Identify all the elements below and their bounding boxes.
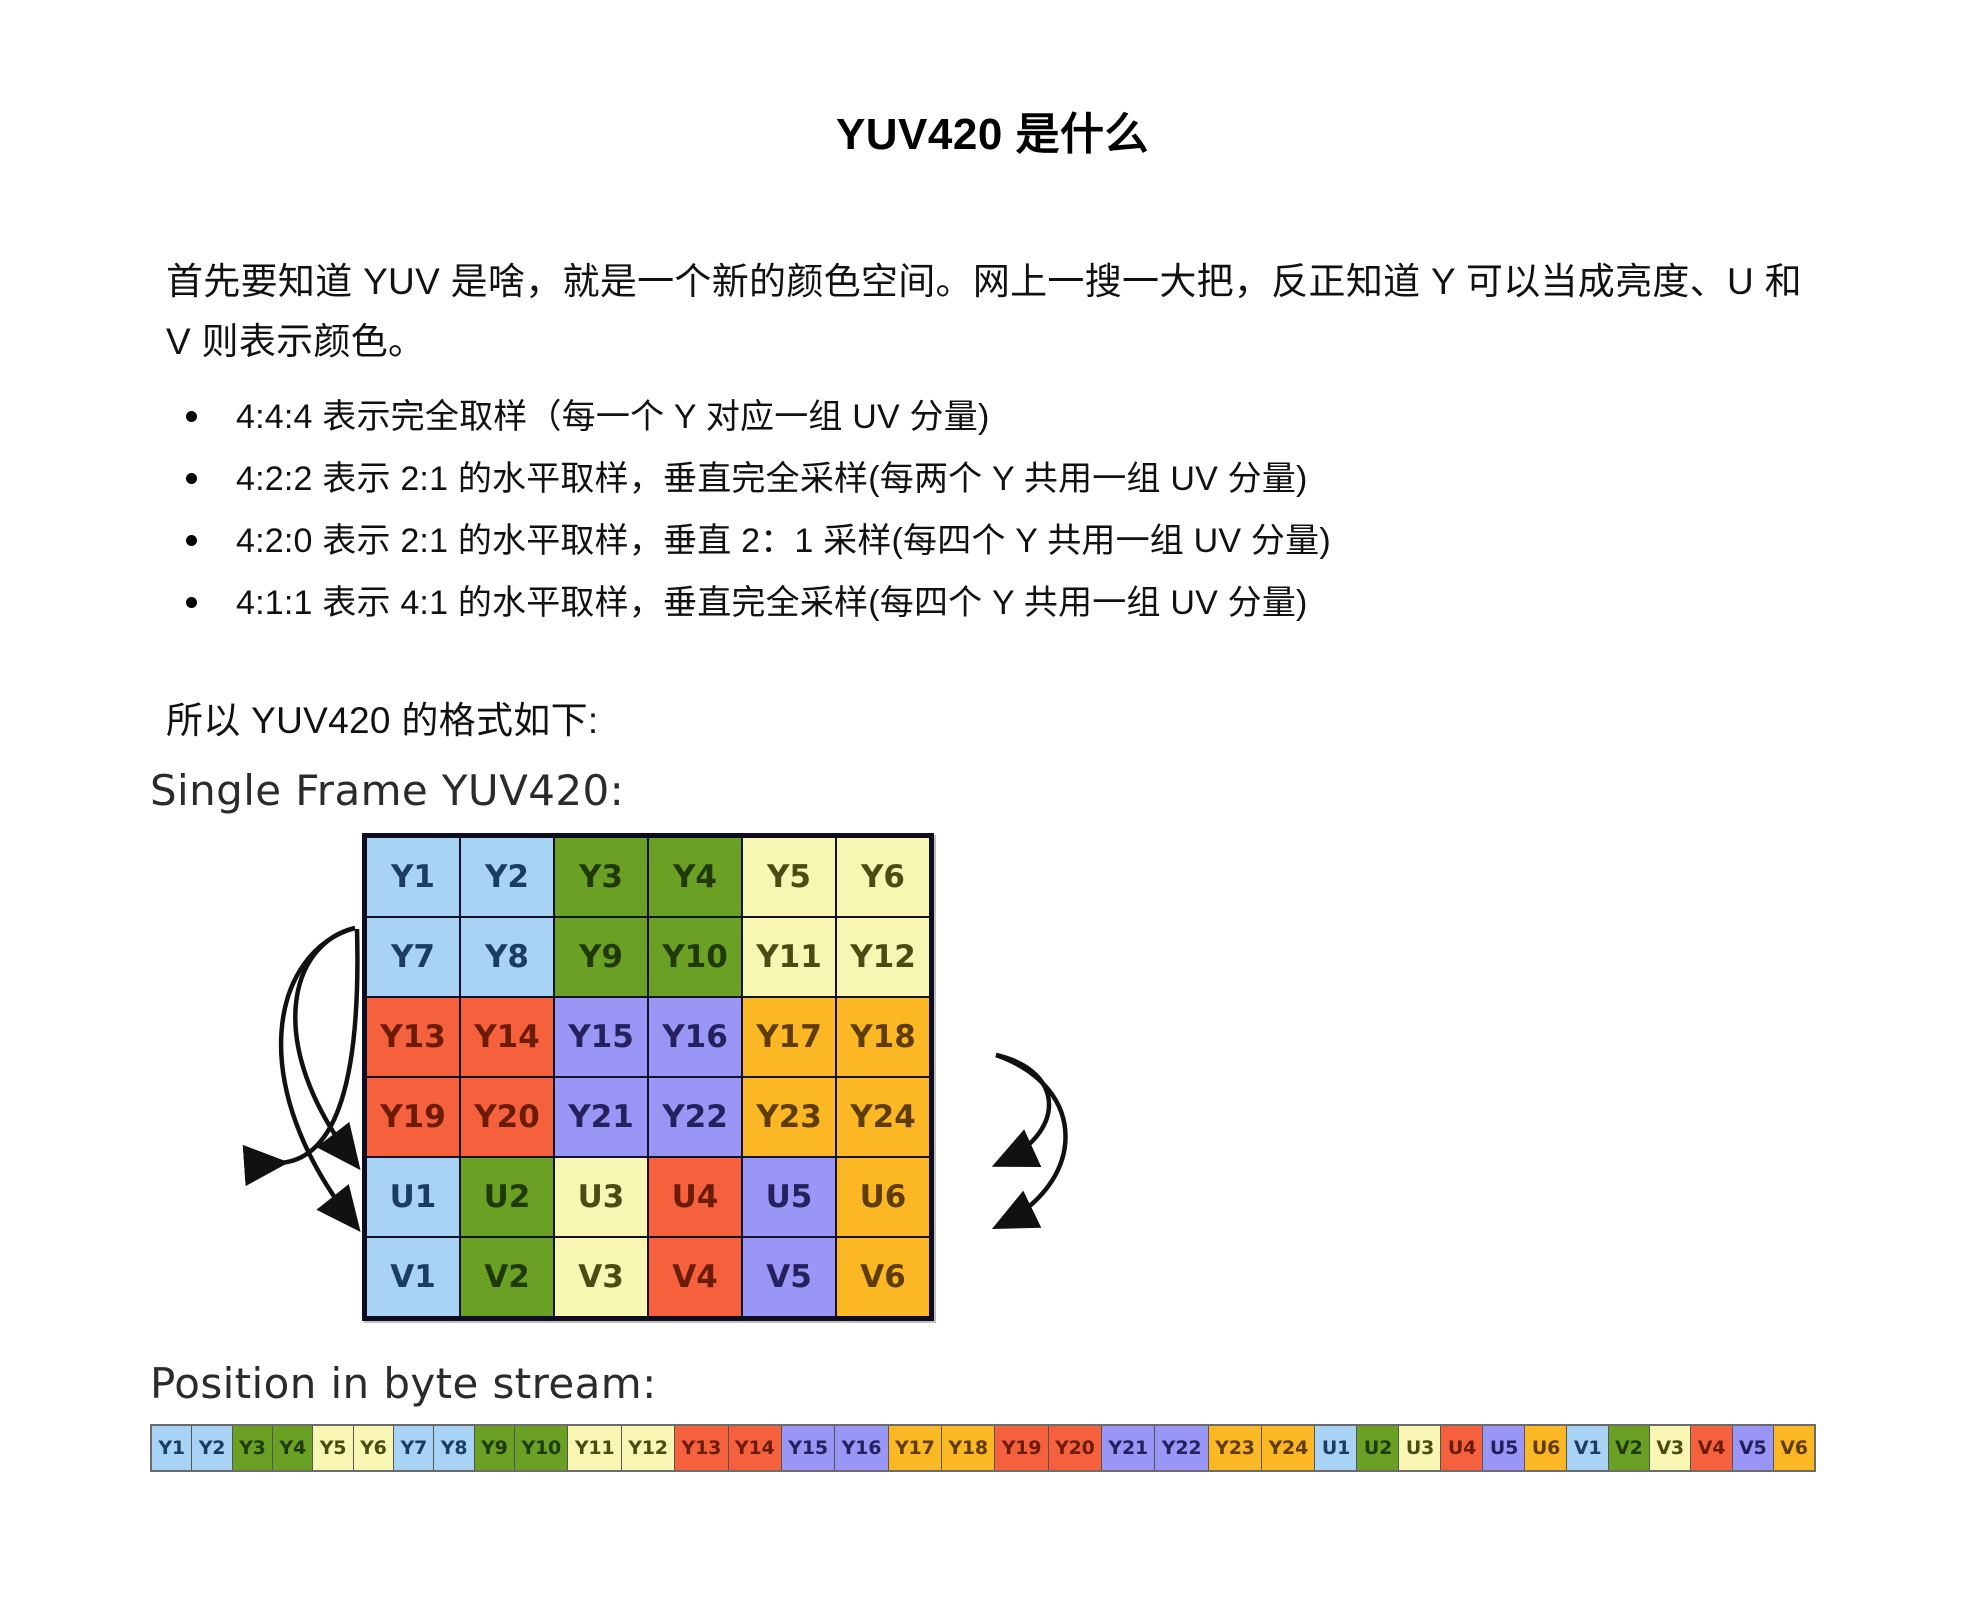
grid-cell: Y24 (836, 1077, 932, 1157)
grid-cell: V3 (554, 1237, 648, 1319)
grid-cell: Y18 (836, 997, 932, 1077)
right-arrows-group (970, 833, 1230, 1333)
table-row: Y7 Y8 Y9 Y10 Y11 Y12 (365, 917, 932, 997)
intro-section: 首先要知道 YUV 是啥，就是一个新的颜色空间。网上一搜一大把，反正知道 Y 可… (166, 252, 1826, 634)
grid-cell: V4 (648, 1237, 742, 1319)
table-row: Y19 Y20 Y21 Y22 Y23 Y24 (365, 1077, 932, 1157)
list-item-label: 4:4:4 表示完全取样（每一个 Y 对应一组 UV 分量) (236, 398, 989, 436)
stream-cell: Y13 (675, 1426, 728, 1470)
stream-cell: Y20 (1049, 1426, 1102, 1470)
stream-cell: Y6 (354, 1426, 394, 1470)
grid-cell: Y19 (365, 1077, 461, 1157)
yuv-pixel-grid: Y1 Y2 Y3 Y4 Y5 Y6 Y7 Y8 Y9 Y10 Y11 Y12 (362, 833, 934, 1321)
figure-stream-heading: Position in byte stream: (150, 1359, 1900, 1408)
stream-cell: U5 (1483, 1426, 1525, 1470)
stream-cell: V6 (1774, 1426, 1814, 1470)
stream-cell: U6 (1525, 1426, 1567, 1470)
grid-cell: Y3 (554, 836, 648, 918)
arrow-right-v (996, 1055, 1066, 1225)
stream-cell: V4 (1691, 1426, 1732, 1470)
stream-cell: U1 (1315, 1426, 1357, 1470)
arrow-right-u (996, 1055, 1049, 1163)
grid-cell: Y17 (742, 997, 836, 1077)
stream-cell: V5 (1733, 1426, 1774, 1470)
grid-cell: Y20 (460, 1077, 554, 1157)
grid-cell: Y5 (742, 836, 836, 918)
stream-cell: Y8 (434, 1426, 474, 1470)
grid-cell: U6 (836, 1157, 932, 1237)
grid-cell: Y21 (554, 1077, 648, 1157)
grid-cell: Y13 (365, 997, 461, 1077)
intro-paragraph: 首先要知道 YUV 是啥，就是一个新的颜色空间。网上一搜一大把，反正知道 Y 可… (166, 252, 1821, 372)
bullet-dot-icon (186, 411, 197, 422)
page-title: YUV420 是什么 (0, 98, 1985, 162)
stream-cell: Y24 (1262, 1426, 1315, 1470)
grid-cell: U1 (365, 1157, 461, 1237)
stream-cell: Y14 (729, 1426, 782, 1470)
bullet-dot-icon (186, 597, 197, 608)
grid-cell: Y6 (836, 836, 932, 918)
arrow-u-curve (295, 928, 355, 1163)
bullet-dot-icon (186, 473, 197, 484)
stream-cell: Y19 (995, 1426, 1048, 1470)
table-row: U1 U2 U3 U4 U5 U6 (365, 1157, 932, 1237)
stream-cell: Y2 (192, 1426, 232, 1470)
grid-cell: V1 (365, 1237, 461, 1319)
stream-cell: Y12 (622, 1426, 675, 1470)
grid-cell: Y1 (365, 836, 461, 918)
grid-cell: Y8 (460, 917, 554, 997)
arrow-v-curve (281, 928, 355, 1225)
grid-cell: Y12 (836, 917, 932, 997)
stream-cell: U4 (1441, 1426, 1483, 1470)
stream-cell: Y9 (475, 1426, 515, 1470)
grid-cell: Y7 (365, 917, 461, 997)
grid-cell: Y23 (742, 1077, 836, 1157)
sampling-bullet-list: 4:4:4 表示完全取样（每一个 Y 对应一组 UV 分量) 4:2:2 表示 … (166, 386, 1826, 634)
pixel-grid-area: Y1 Y2 Y3 Y4 Y5 Y6 Y7 Y8 Y9 Y10 Y11 Y12 (150, 833, 1900, 1333)
stream-cell: Y4 (273, 1426, 313, 1470)
grid-cell: Y16 (648, 997, 742, 1077)
grid-cell: U5 (742, 1157, 836, 1237)
format-intro-line: 所以 YUV420 的格式如下: (166, 695, 598, 747)
table-row: V1 V2 V3 V4 V5 V6 (365, 1237, 932, 1319)
stream-cell: Y17 (889, 1426, 942, 1470)
list-item: 4:2:0 表示 2:1 的水平取样，垂直 2：1 采样(每四个 Y 共用一组 … (166, 510, 1826, 572)
grid-cell: V2 (460, 1237, 554, 1319)
document-page: YUV420 是什么 首先要知道 YUV 是啥，就是一个新的颜色空间。网上一搜一… (0, 0, 1985, 1624)
arrow-y-to-u-1 (280, 929, 357, 1163)
byte-stream-strip: Y1 Y2 Y3 Y4 Y5 Y6 Y7 Y8 Y9 Y10 Y11 Y12 Y… (150, 1424, 1816, 1472)
grid-cell: Y14 (460, 997, 554, 1077)
grid-cell: U3 (554, 1157, 648, 1237)
stream-cell: V1 (1567, 1426, 1608, 1470)
grid-cell: Y11 (742, 917, 836, 997)
bullet-dot-icon (186, 535, 197, 546)
list-item-label: 4:2:0 表示 2:1 的水平取样，垂直 2：1 采样(每四个 Y 共用一组 … (236, 522, 1331, 560)
list-item-label: 4:2:2 表示 2:1 的水平取样，垂直完全采样(每两个 Y 共用一组 UV … (236, 460, 1308, 498)
stream-cell: Y3 (233, 1426, 273, 1470)
stream-cell: Y10 (515, 1426, 568, 1470)
grid-cell: V5 (742, 1237, 836, 1319)
stream-cell: Y16 (835, 1426, 888, 1470)
grid-cell: V6 (836, 1237, 932, 1319)
list-item: 4:2:2 表示 2:1 的水平取样，垂直完全采样(每两个 Y 共用一组 UV … (166, 448, 1826, 510)
grid-cell: Y4 (648, 836, 742, 918)
figure-frame-heading: Single Frame YUV420: (150, 766, 1900, 815)
stream-cell: U2 (1357, 1426, 1399, 1470)
grid-cell: Y22 (648, 1077, 742, 1157)
grid-cell: U4 (648, 1157, 742, 1237)
grid-cell: Y15 (554, 997, 648, 1077)
table-row: Y1 Y2 Y3 Y4 Y5 Y6 (365, 836, 932, 918)
grid-cell: Y2 (460, 836, 554, 918)
yuv420-figure: Single Frame YUV420: Y1 Y2 Y3 (150, 766, 1900, 1472)
table-row: Y13 Y14 Y15 Y16 Y17 Y18 (365, 997, 932, 1077)
stream-cell: Y7 (394, 1426, 434, 1470)
stream-cell: Y1 (152, 1426, 192, 1470)
stream-cell: V2 (1609, 1426, 1650, 1470)
grid-cell: Y9 (554, 917, 648, 997)
grid-cell: Y10 (648, 917, 742, 997)
stream-cell: Y22 (1155, 1426, 1208, 1470)
stream-cell: Y15 (782, 1426, 835, 1470)
stream-cell: Y11 (568, 1426, 621, 1470)
stream-cell: V3 (1650, 1426, 1691, 1470)
stream-cell: Y5 (313, 1426, 353, 1470)
stream-cell: Y23 (1209, 1426, 1262, 1470)
stream-cell: Y18 (942, 1426, 995, 1470)
list-item-label: 4:1:1 表示 4:1 的水平取样，垂直完全采样(每四个 Y 共用一组 UV … (236, 584, 1308, 622)
stream-cell: U3 (1399, 1426, 1441, 1470)
list-item: 4:1:1 表示 4:1 的水平取样，垂直完全采样(每四个 Y 共用一组 UV … (166, 572, 1826, 634)
list-item: 4:4:4 表示完全取样（每一个 Y 对应一组 UV 分量) (166, 386, 1826, 448)
stream-cell: Y21 (1102, 1426, 1155, 1470)
grid-cell: U2 (460, 1157, 554, 1237)
